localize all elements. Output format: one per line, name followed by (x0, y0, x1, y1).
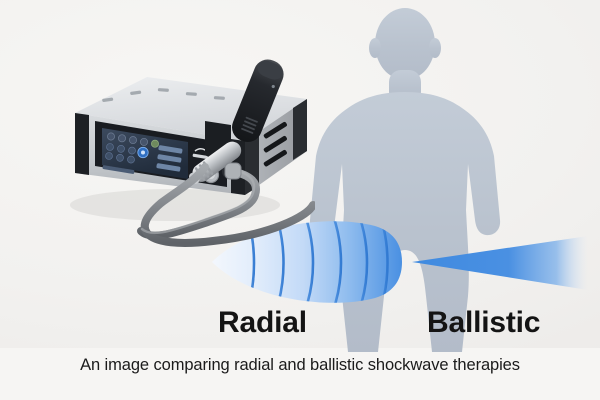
shockwave-therapy-device (55, 55, 315, 255)
ballistic-wave-cone (412, 236, 588, 290)
label-radial: Radial (218, 308, 307, 338)
label-ballistic: Ballistic (427, 308, 540, 338)
image-canvas: Radial Ballistic An image comparing radi… (0, 0, 600, 400)
image-caption: An image comparing radial and ballistic … (0, 356, 600, 375)
